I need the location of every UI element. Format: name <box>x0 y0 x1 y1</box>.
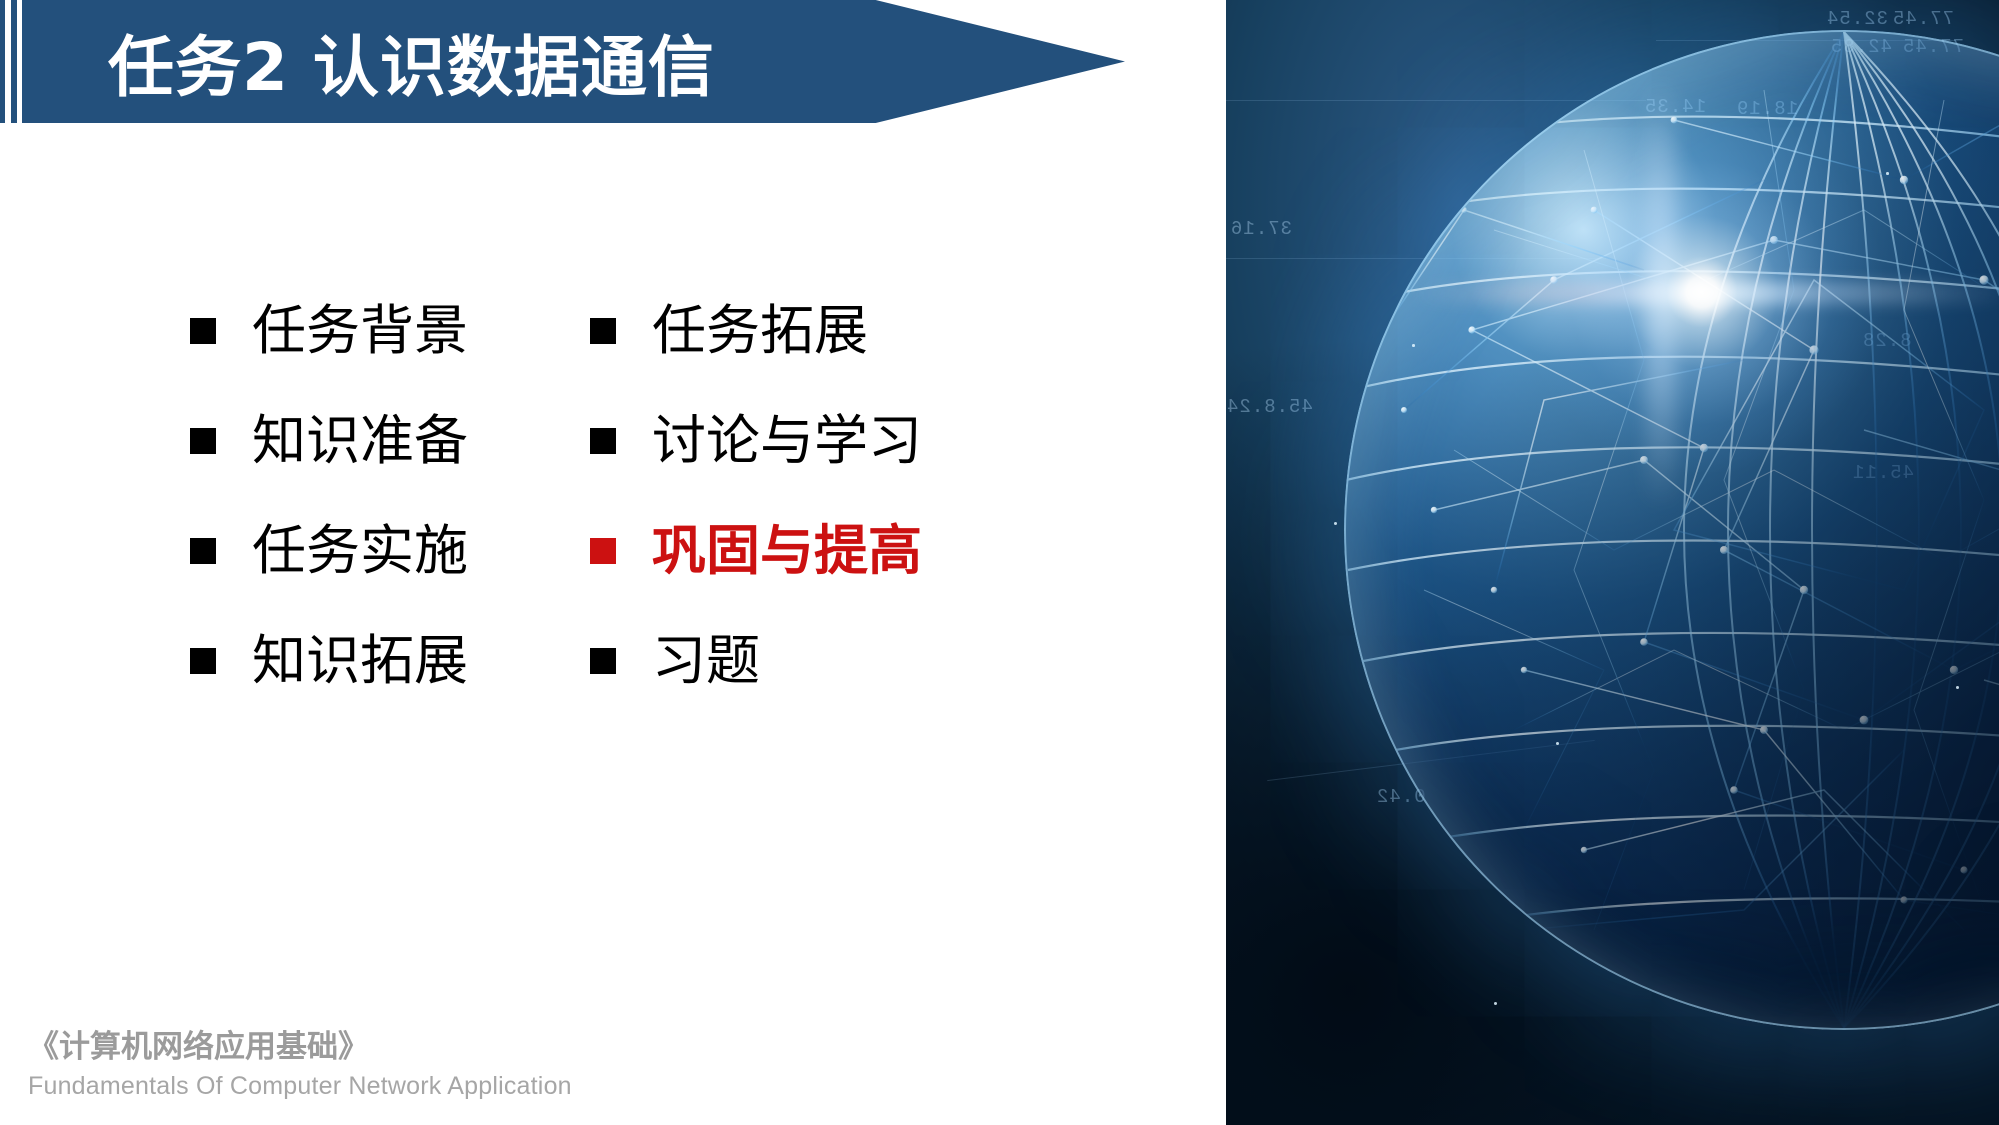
footer-title-chinese: 《计算机网络应用基础》 <box>28 1021 788 1066</box>
agenda-item-label: 任务背景 <box>252 304 468 358</box>
agenda-list: 任务背景 知识准备 任务实施 知识拓展 任务拓展 讨论与学习 <box>190 300 1070 692</box>
slide-title: 任务2 认识数据通信 <box>108 0 715 123</box>
agenda-right-column: 任务拓展 讨论与学习 巩固与提高 习题 <box>590 300 1010 692</box>
agenda-item-discussion-learning[interactable]: 讨论与学习 <box>590 410 1010 472</box>
square-bullet-icon <box>190 428 216 454</box>
agenda-item-label: 讨论与学习 <box>652 414 922 468</box>
banner-accent-stripe-2 <box>11 0 17 123</box>
agenda-item-task-extension[interactable]: 任务拓展 <box>590 300 1010 362</box>
agenda-item-task-background[interactable]: 任务背景 <box>190 300 550 362</box>
presentation-slide: 任务2 认识数据通信 任务背景 知识准备 任务实施 知识拓展 <box>0 0 1999 1125</box>
agenda-item-task-implementation[interactable]: 任务实施 <box>190 520 550 582</box>
agenda-item-label: 知识拓展 <box>252 634 468 688</box>
banner-accent-stripe-1 <box>0 0 5 123</box>
agenda-item-label: 巩固与提高 <box>652 524 922 578</box>
square-bullet-icon <box>590 318 616 344</box>
square-bullet-icon <box>590 428 616 454</box>
agenda-item-knowledge-expansion[interactable]: 知识拓展 <box>190 630 550 692</box>
square-bullet-icon <box>190 318 216 344</box>
agenda-item-label: 习题 <box>652 634 760 688</box>
agenda-item-label: 任务实施 <box>252 524 468 578</box>
agenda-item-consolidation-improvement[interactable]: 巩固与提高 <box>590 520 1010 582</box>
slide-header-banner: 任务2 认识数据通信 <box>0 0 1125 123</box>
agenda-item-exercises[interactable]: 习题 <box>590 630 1010 692</box>
agenda-item-label: 知识准备 <box>252 414 468 468</box>
agenda-item-label: 任务拓展 <box>652 304 868 358</box>
slide-footer: 《计算机网络应用基础》 Fundamentals Of Computer Net… <box>28 1021 788 1101</box>
square-bullet-icon <box>590 648 616 674</box>
square-bullet-icon <box>190 648 216 674</box>
footer-title-english: Fundamentals Of Computer Network Applica… <box>28 1072 788 1101</box>
agenda-item-knowledge-prep[interactable]: 知识准备 <box>190 410 550 472</box>
square-bullet-icon <box>590 538 616 564</box>
network-globe-image: 32.54 77.45 42.85 77.45 14.35 18.19 37.1… <box>1226 0 1999 1125</box>
square-bullet-icon <box>190 538 216 564</box>
agenda-left-column: 任务背景 知识准备 任务实施 知识拓展 <box>190 300 550 692</box>
